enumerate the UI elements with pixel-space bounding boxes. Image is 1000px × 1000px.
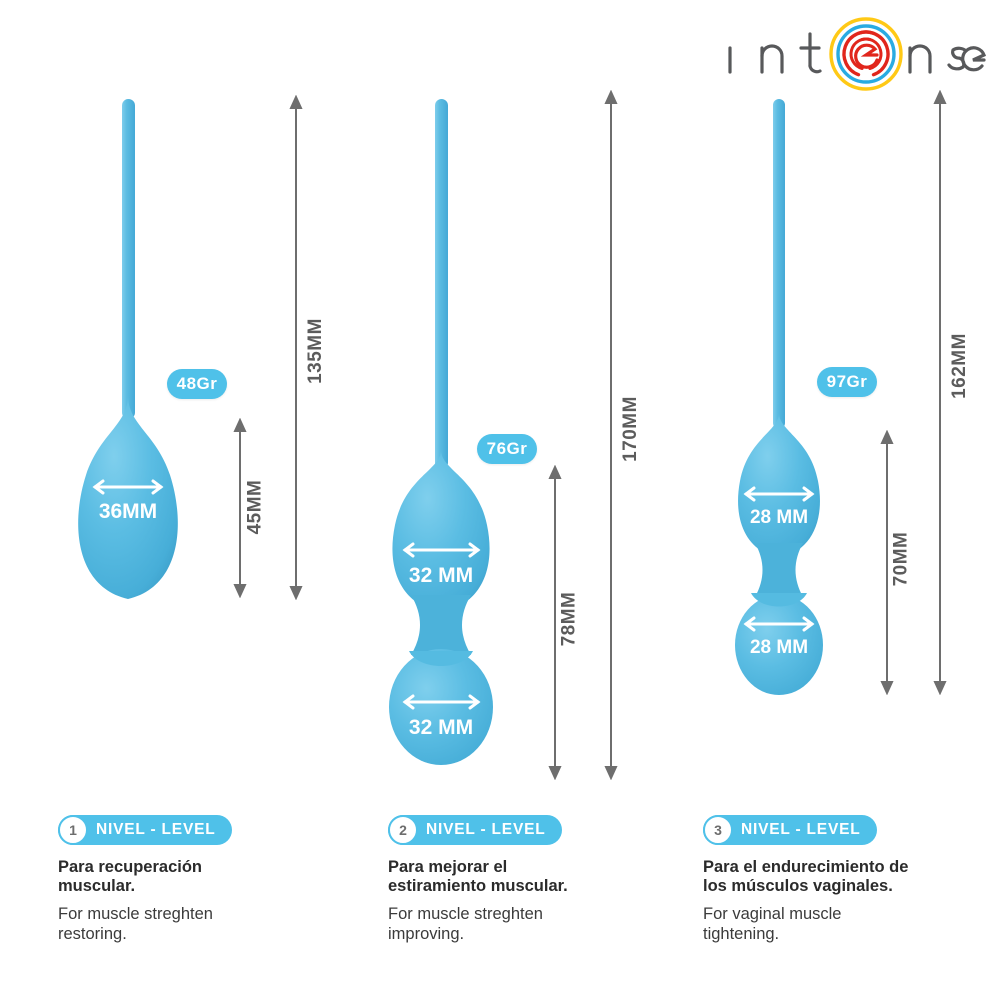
level-pill-label: NIVEL - LEVEL xyxy=(741,821,861,839)
brand-logo xyxy=(718,14,990,94)
level-pill-label: NIVEL - LEVEL xyxy=(426,821,546,839)
total-length-label-level-2: 170MM xyxy=(620,396,642,462)
level-number: 3 xyxy=(714,822,722,838)
body-length-label-level-3: 70MM xyxy=(890,532,912,587)
level-badge-1: NIVEL - LEVEL 1 xyxy=(58,815,358,845)
body-length-label-level-2: 78MM xyxy=(558,592,580,647)
wordmark-left xyxy=(730,34,820,72)
ball-width-label-3-0: 28 MM xyxy=(750,507,808,528)
waist-2 xyxy=(411,595,471,655)
level-badge-2: NIVEL - LEVEL 2 xyxy=(388,815,688,845)
ball-width-label-3-1: 28 MM xyxy=(750,637,808,658)
product-graphic-level-3: 28 MM 28 MM xyxy=(700,95,900,735)
ball-3-upper xyxy=(738,413,820,557)
caption-english-2: For muscle streghten improving. xyxy=(388,904,688,944)
infographic-canvas: 36MM 48Gr 45MM 135MM xyxy=(0,0,1000,1000)
caption-spanish-1: Para recuperación muscular. xyxy=(58,858,358,897)
caption-spanish-2: Para mejorar el estiramiento muscular. xyxy=(388,858,688,897)
weight-badge-level-3: 97Gr xyxy=(817,367,877,397)
weight-badge-level-1: 48Gr xyxy=(167,369,227,399)
level-number: 2 xyxy=(399,822,407,838)
ball-1 xyxy=(78,395,178,599)
weight-badge-text: 48Gr xyxy=(177,374,218,394)
level-number-circle-1: 1 xyxy=(58,815,88,845)
wordmark-right xyxy=(910,46,984,72)
body-length-label-level-1: 45MM xyxy=(244,480,266,535)
weight-badge-text: 76Gr xyxy=(487,439,528,459)
level-badge-3: NIVEL - LEVEL 3 xyxy=(703,815,1000,845)
ball-width-label-2-1: 32 MM xyxy=(409,716,473,739)
caption-spanish-3: Para el endurecimiento de los músculos v… xyxy=(703,858,1000,897)
total-length-label-level-1: 135MM xyxy=(305,318,327,384)
product-3-shape: 28 MM 28 MM xyxy=(700,95,900,735)
total-length-label-level-3: 162MM xyxy=(949,333,971,399)
ball-2-lower xyxy=(389,649,493,765)
ball-width-label-1-0: 36MM xyxy=(99,500,157,523)
caption-block-level-1: NIVEL - LEVEL 1 Para recuperación muscul… xyxy=(58,815,358,944)
concentric-rings-e-icon xyxy=(831,19,901,89)
level-number-circle-3: 3 xyxy=(703,815,733,845)
level-number-circle-2: 2 xyxy=(388,815,418,845)
level-pill-label: NIVEL - LEVEL xyxy=(96,821,216,839)
level-number: 1 xyxy=(69,822,77,838)
weight-badge-text: 97Gr xyxy=(827,372,868,392)
caption-english-1: For muscle streghten restoring. xyxy=(58,904,358,944)
waist-3 xyxy=(755,543,803,597)
brand-logo-svg xyxy=(718,14,990,94)
caption-block-level-3: NIVEL - LEVEL 3 Para el endurecimiento d… xyxy=(703,815,1000,944)
weight-badge-level-2: 76Gr xyxy=(477,434,537,464)
ball-width-label-2-0: 32 MM xyxy=(409,564,473,587)
caption-block-level-2: NIVEL - LEVEL 2 Para mejorar el estirami… xyxy=(388,815,688,944)
caption-english-3: For vaginal muscle tightening. xyxy=(703,904,1000,944)
